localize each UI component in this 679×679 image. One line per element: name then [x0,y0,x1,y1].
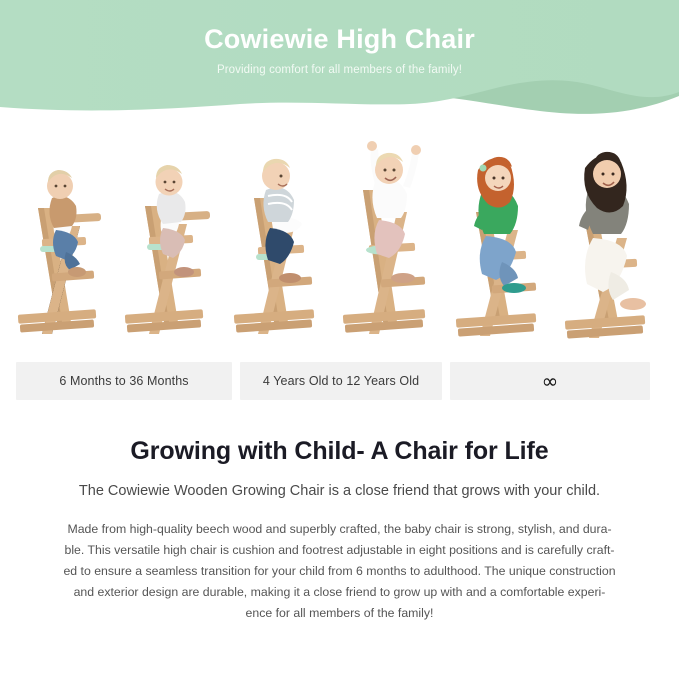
description-line: ed to ensure a seamless transition for y… [40,561,640,582]
age-label-box-1: 6 Months to 36 Months [16,362,232,400]
section-heading: Growing with Child- A Chair for Life [30,436,649,466]
description-section: Growing with Child- A Chair for Life The… [0,414,679,625]
toddler-arms-up-4-illustration [335,126,449,348]
description-line: ence for all members of the family! [40,603,640,624]
woman-in-chair-6-illustration [559,126,671,348]
age-label-text-1: 6 Months to 36 Months [59,374,188,388]
product-figure-1 [8,126,116,348]
product-figure-6 [559,126,671,348]
toddler-in-chair-3-illustration [226,126,334,348]
header-text-group: Cowiewie High Chair Providing comfort fo… [0,0,679,100]
product-figure-3 [226,126,334,348]
page-subtitle: Providing comfort for all members of the… [217,64,462,76]
girl-in-chair-5-illustration [450,126,558,348]
age-label-box-2: 4 Years Old to 12 Years Old [240,362,442,400]
product-figures-row [8,126,671,348]
description-line: and exterior design are durable, making … [40,582,640,603]
description-line: Made from high-quality beech wood and su… [40,519,640,540]
description-paragraph: Made from high-quality beech wood and su… [40,519,640,625]
age-range-label-row: 6 Months to 36 Months 4 Years Old to 12 … [0,356,679,414]
page-title: Cowiewie High Chair [204,24,475,55]
product-image-strip [0,118,679,356]
section-subheading: The Cowiewie Wooden Growing Chair is a c… [30,482,649,501]
infinity-symbol-icon: ∞ [542,371,559,391]
age-label-box-3: ∞ [450,362,650,400]
baby-in-high-chair-2-illustration [117,126,225,348]
product-figure-4 [335,126,449,348]
baby-in-high-chair-1-illustration [8,126,116,348]
product-figure-2 [117,126,225,348]
age-label-text-2: 4 Years Old to 12 Years Old [263,374,419,388]
description-line: ble. This versatile high chair is cushio… [40,540,640,561]
page-header-banner: Cowiewie High Chair Providing comfort fo… [0,0,679,118]
product-figure-5 [450,126,558,348]
